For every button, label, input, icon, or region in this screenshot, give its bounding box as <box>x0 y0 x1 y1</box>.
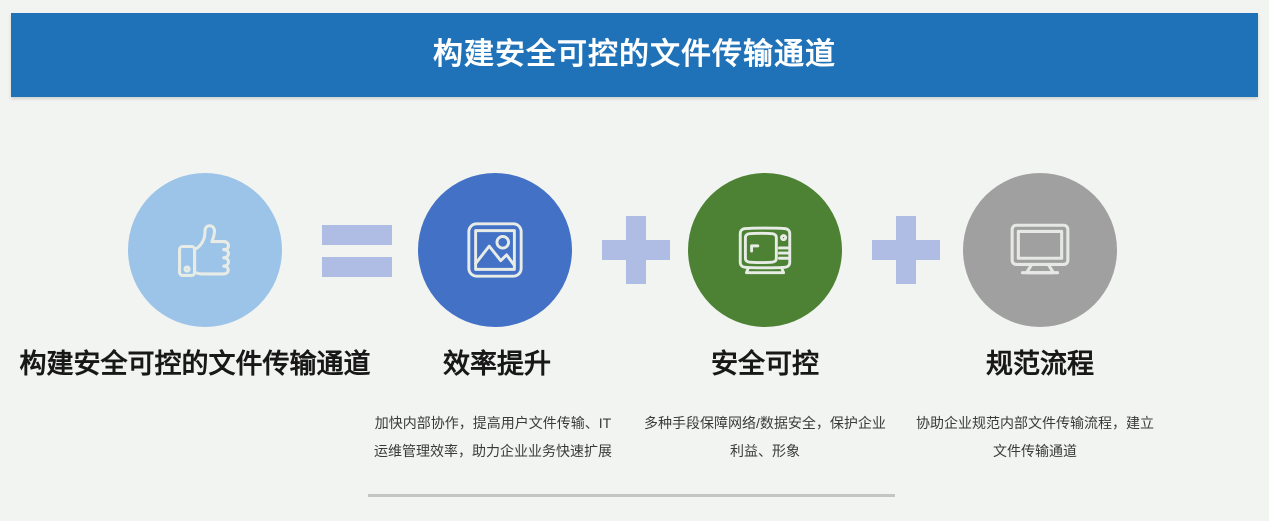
page-title: 构建安全可控的文件传输通道 <box>433 40 836 70</box>
operator-equals <box>322 225 392 277</box>
thumbs-up-icon <box>168 213 242 287</box>
column-heading-process: 规范流程 <box>900 348 1180 380</box>
plus-bar-vertical <box>626 216 646 284</box>
column-heading-result: 构建安全可控的文件传输通道 <box>0 348 390 380</box>
equals-bar-top <box>322 225 392 245</box>
desktop-monitor-icon <box>1007 217 1073 283</box>
slide-canvas: 构建安全可控的文件传输通道 <box>0 0 1269 521</box>
column-body-process: 协助企业规范内部文件传输流程，建立文件传输通道 <box>910 409 1160 465</box>
icon-circle-result <box>128 173 282 327</box>
plus-bar-vertical <box>896 216 916 284</box>
column-heading-security: 安全可控 <box>630 348 900 380</box>
icon-circle-process <box>963 173 1117 327</box>
retro-tv-icon <box>732 217 798 283</box>
column-heading-efficiency: 效率提升 <box>352 348 642 380</box>
image-picture-icon <box>464 219 526 281</box>
title-banner: 构建安全可控的文件传输通道 <box>11 13 1258 97</box>
operator-plus-2 <box>872 216 940 284</box>
equals-bar-bottom <box>322 257 392 277</box>
operator-plus-1 <box>602 216 670 284</box>
icon-circle-efficiency <box>418 173 572 327</box>
column-body-efficiency: 加快内部协作，提高用户文件传输、IT运维管理效率，助力企业业务快速扩展 <box>368 409 618 465</box>
column-body-security: 多种手段保障网络/数据安全，保护企业利益、形象 <box>640 409 890 465</box>
bottom-divider <box>368 494 895 497</box>
icon-circle-security <box>688 173 842 327</box>
